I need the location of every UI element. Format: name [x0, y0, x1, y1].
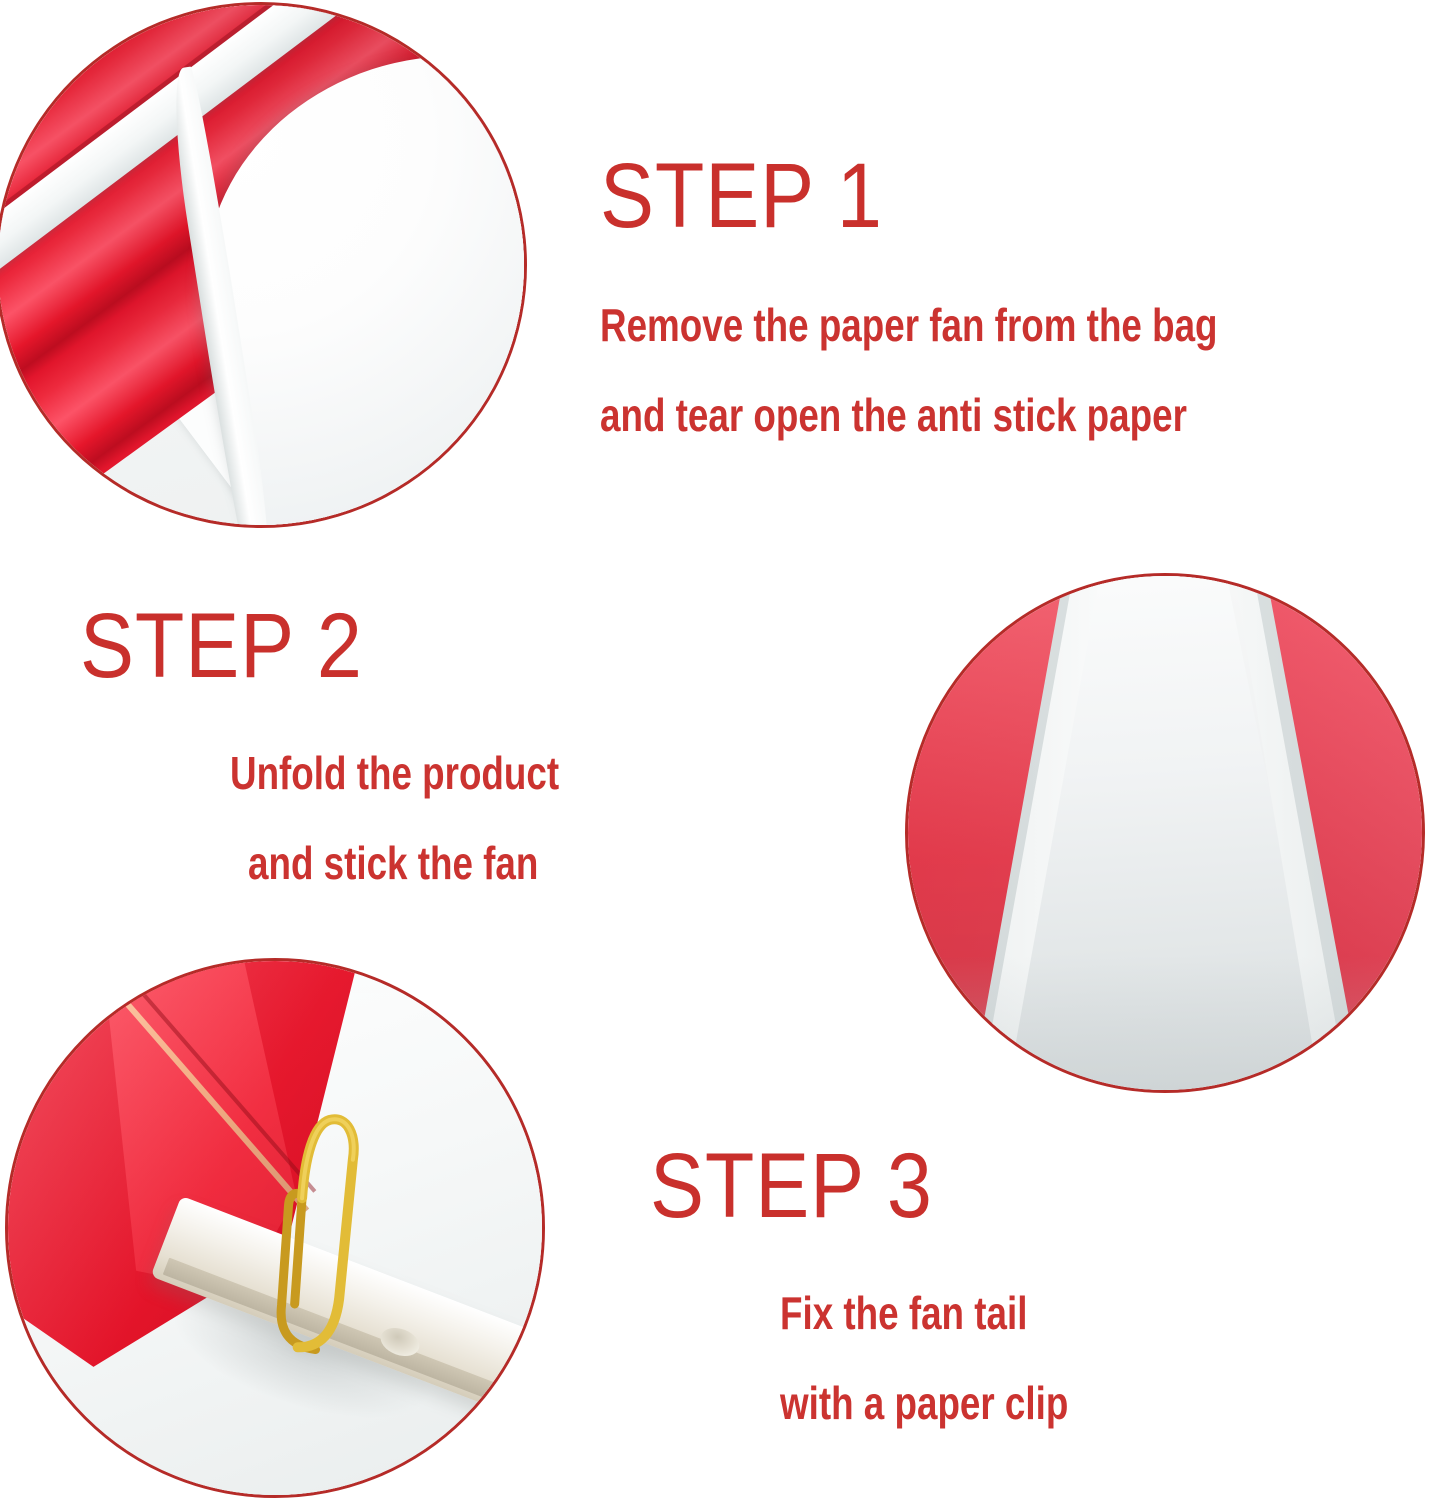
step-2-text-block: STEP 2 Unfold the product and stick the … [80, 600, 641, 886]
step-1-line-2: and tear open the anti stick paper [600, 392, 1218, 438]
instruction-poster: STEP 1 Remove the paper fan from the bag… [0, 0, 1439, 1500]
step-2-photo [905, 573, 1425, 1093]
step-3-line-1: Fix the fan tail [780, 1290, 1068, 1336]
step-2-title: STEP 2 [80, 600, 574, 692]
step-1-line-1: Remove the paper fan from the bag [600, 302, 1218, 348]
bottom-vignette [908, 956, 1422, 1090]
step-3-text-block: STEP 3 Fix the fan tail with a paper cli… [650, 1140, 1140, 1426]
step-3-title: STEP 3 [650, 1140, 1082, 1232]
step-1-text-block: STEP 1 Remove the paper fan from the bag… [600, 150, 1372, 438]
step-1-title: STEP 1 [600, 150, 1279, 242]
paper-clip-icon [257, 1096, 367, 1360]
step-2-scene [908, 576, 1422, 1090]
step-3-photo [5, 958, 545, 1498]
step-2-line-1: Unfold the product [230, 750, 559, 796]
step-2-line-2: and stick the fan [248, 840, 563, 886]
step-1-scene [0, 5, 524, 525]
step-1-photo [0, 2, 527, 528]
step-3-line-2: with a paper clip [780, 1380, 1068, 1426]
step-3-scene [8, 961, 542, 1495]
